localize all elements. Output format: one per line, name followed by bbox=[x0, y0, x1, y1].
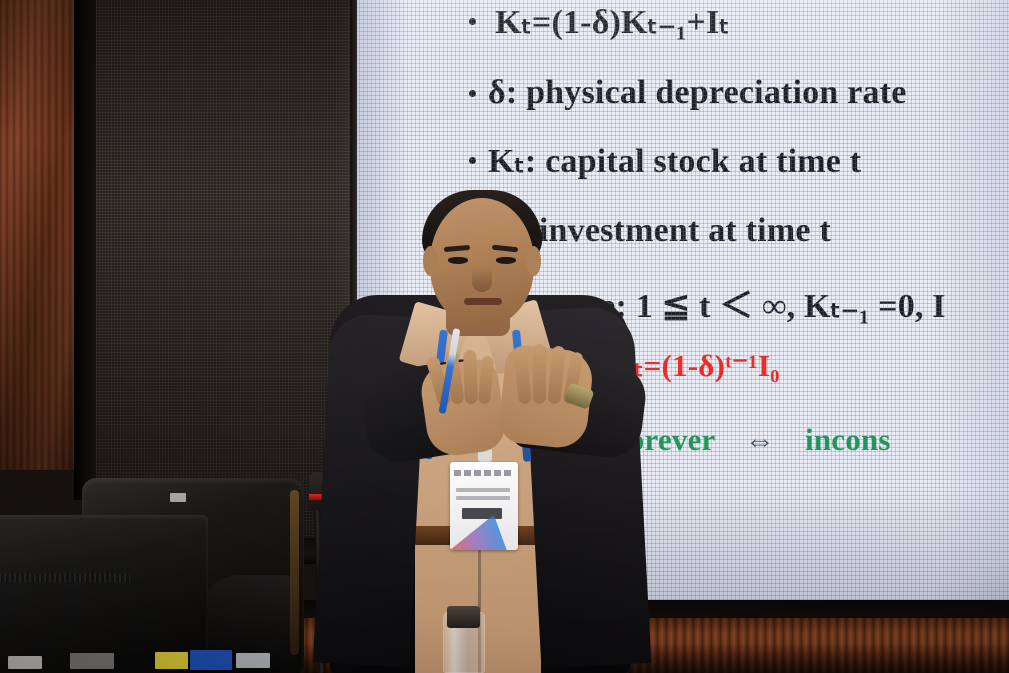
iff-arrow-icon: ⇔ bbox=[723, 424, 797, 457]
wall-seam bbox=[74, 0, 98, 500]
finger bbox=[533, 344, 546, 404]
chair-brand-tag bbox=[170, 493, 186, 502]
ear-right bbox=[526, 246, 541, 276]
monitor-vent-grille bbox=[0, 573, 130, 583]
mouth bbox=[464, 298, 502, 305]
presenter-figure bbox=[320, 190, 650, 673]
ear-left bbox=[423, 246, 438, 276]
eye-right bbox=[496, 257, 516, 264]
wood-wall-panel-left bbox=[0, 0, 76, 470]
bullet-icon-2 bbox=[469, 90, 476, 97]
finger bbox=[463, 350, 478, 404]
green-text-right: incons bbox=[805, 422, 891, 457]
slide-line-1: Kₜ=(1-δ)Kₜ₋₁+Iₜ bbox=[495, 2, 730, 42]
head bbox=[430, 198, 534, 326]
badge-text-line-2 bbox=[456, 496, 510, 500]
bullet-icon-3 bbox=[469, 157, 476, 164]
bullet-icon-1 bbox=[469, 18, 476, 25]
presentation-photo-scene: Kₜ=(1-δ)Kₜ₋₁+Iₜ δ: physical depreciation… bbox=[0, 0, 1009, 673]
badge-text-line-1 bbox=[456, 488, 510, 492]
badge-ribbon-graphic bbox=[450, 516, 518, 550]
jacket-lapel-left bbox=[313, 313, 427, 668]
slide-line-3: Kₜ: capital stock at time t bbox=[488, 141, 861, 181]
water-bottle-cap bbox=[447, 606, 480, 628]
conference-name-badge bbox=[450, 462, 518, 550]
chair-side-piping bbox=[290, 490, 299, 655]
monitor-label-sticker-4 bbox=[190, 650, 232, 670]
monitor-label-sticker-5 bbox=[236, 653, 270, 668]
monitor-label-sticker-2 bbox=[70, 653, 114, 669]
monitor-label-sticker-1 bbox=[8, 656, 42, 669]
monitor-label-sticker-3 bbox=[155, 652, 188, 669]
eye-left bbox=[448, 257, 468, 264]
monitor-rear-shell bbox=[0, 515, 208, 673]
badge-logo-icon bbox=[454, 470, 512, 476]
nose bbox=[472, 266, 492, 292]
slide-line-2: δ: physical depreciation rate bbox=[488, 74, 907, 112]
